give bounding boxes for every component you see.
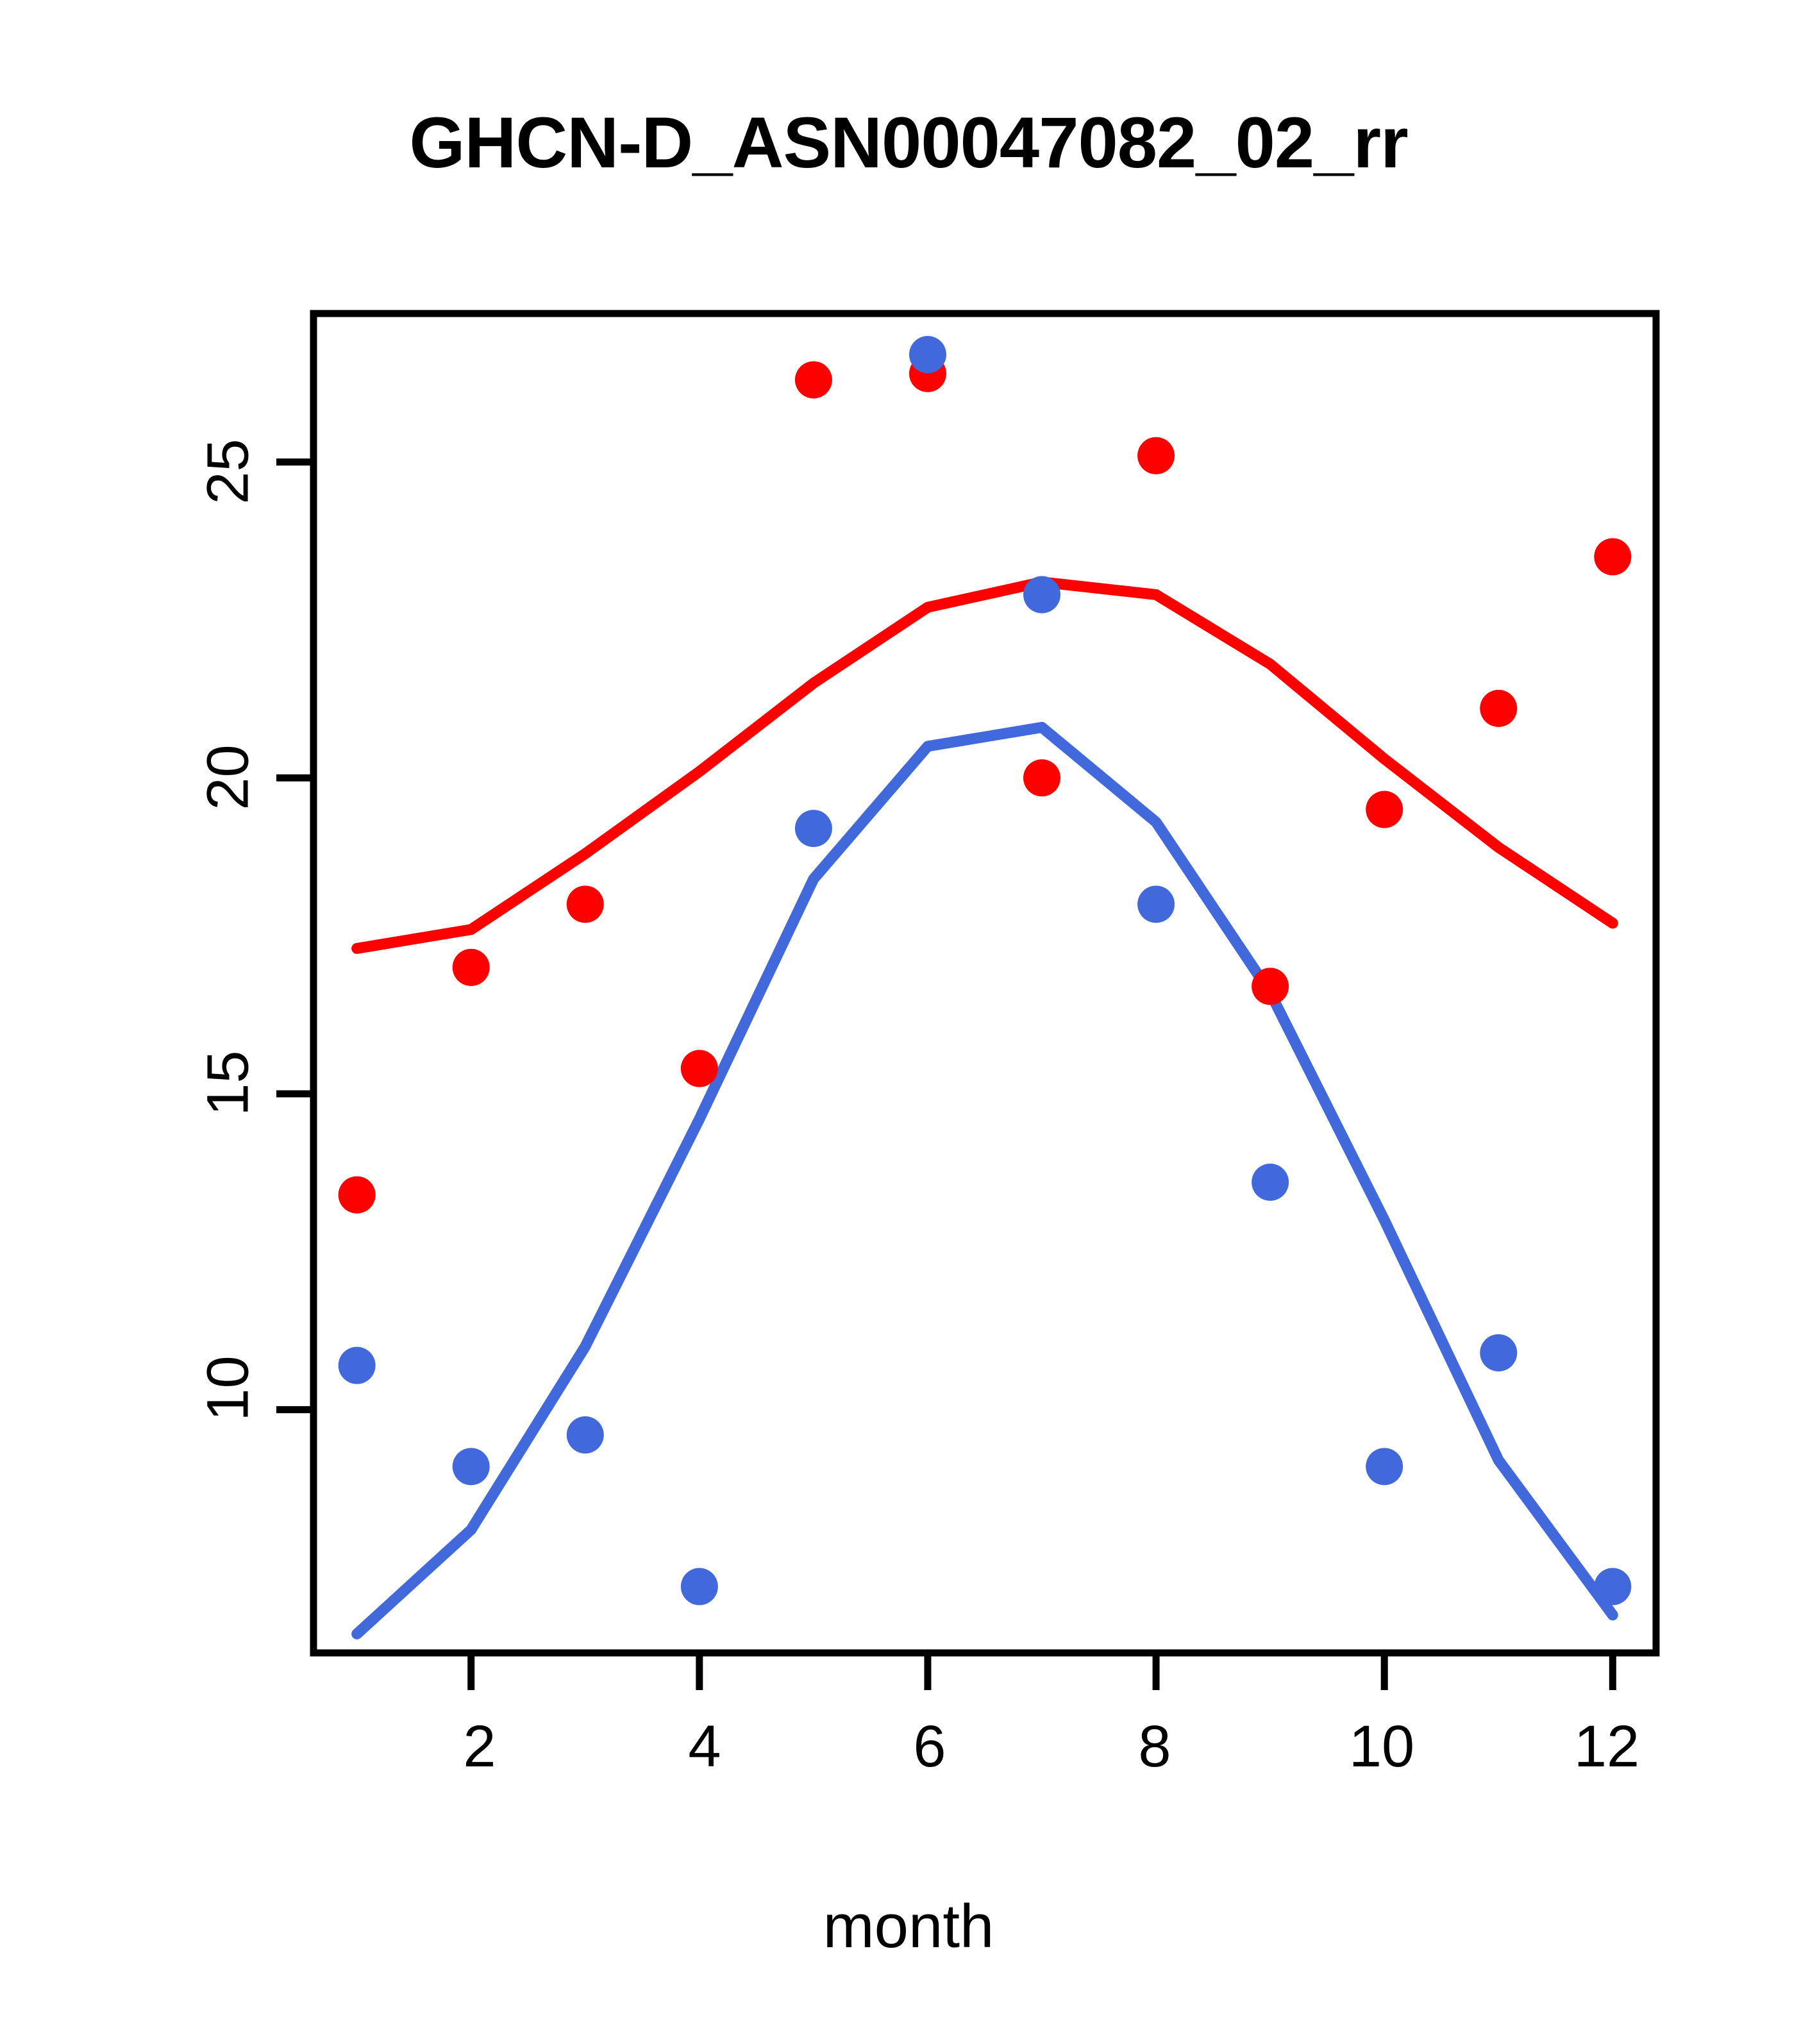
blue-points-marker[interactable]	[339, 1347, 376, 1384]
blue-points-marker[interactable]	[909, 336, 946, 373]
blue-points-marker[interactable]	[1480, 1334, 1517, 1371]
y-tick-label-25: 25	[195, 433, 262, 510]
x-tick-label-8: 8	[1116, 1713, 1193, 1780]
blue-points-marker[interactable]	[1594, 1568, 1631, 1605]
red-points-marker[interactable]	[1252, 968, 1289, 1005]
red-trend-line	[357, 582, 1613, 949]
red-points-marker[interactable]	[1480, 690, 1517, 727]
y-tick-label-20: 20	[195, 739, 262, 816]
blue-points-marker[interactable]	[567, 1416, 604, 1453]
red-data-points[interactable]	[339, 355, 1632, 1214]
y-tick-label-10: 10	[195, 1350, 262, 1427]
x-axis-ticks	[471, 1653, 1613, 1690]
red-points-marker[interactable]	[567, 885, 604, 923]
blue-points-marker[interactable]	[681, 1568, 718, 1605]
blue-points-marker[interactable]	[1023, 576, 1060, 613]
blue-points-marker[interactable]	[1366, 1448, 1403, 1485]
red-points-marker[interactable]	[795, 361, 832, 398]
red-points-marker[interactable]	[1366, 791, 1403, 828]
x-tick-label-12: 12	[1549, 1713, 1664, 1780]
red-points-marker[interactable]	[1137, 437, 1175, 474]
x-tick-label-2: 2	[441, 1713, 518, 1780]
x-tick-label-4: 4	[666, 1713, 743, 1780]
x-tick-label-6: 6	[891, 1713, 968, 1780]
red-points-marker[interactable]	[339, 1177, 376, 1214]
y-axis-ticks	[276, 462, 314, 1410]
x-tick-label-10: 10	[1324, 1713, 1439, 1780]
red-points-marker[interactable]	[1023, 759, 1060, 796]
blue-points-marker[interactable]	[1252, 1164, 1289, 1201]
blue-data-points[interactable]	[339, 336, 1632, 1605]
blue-points-marker[interactable]	[795, 810, 832, 847]
blue-points-marker[interactable]	[453, 1448, 490, 1485]
y-tick-label-15: 15	[195, 1045, 262, 1122]
chart-page: GHCN-D_ASN00047082_02_rr 25 20 15 10 2 4…	[0, 0, 1817, 2044]
red-points-marker[interactable]	[681, 1050, 718, 1087]
x-axis-title: month	[0, 1891, 1817, 1962]
blue-trend-line	[357, 727, 1613, 1634]
blue-points-marker[interactable]	[1137, 885, 1175, 923]
red-points-marker[interactable]	[1594, 538, 1631, 575]
red-points-marker[interactable]	[453, 949, 490, 986]
